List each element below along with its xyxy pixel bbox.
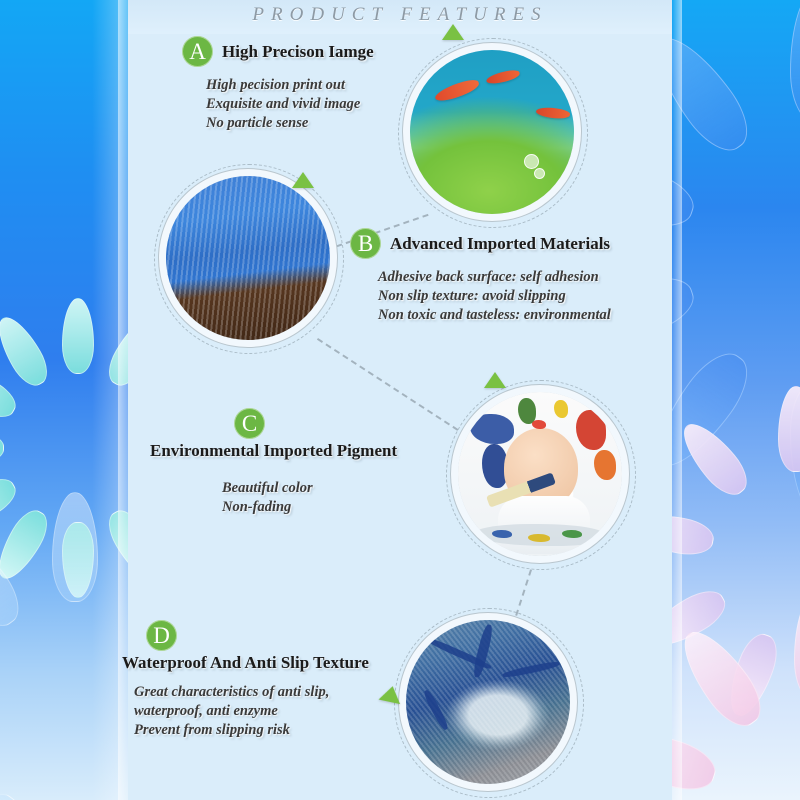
feature-b-heading-row: B Advanced Imported Materials xyxy=(350,228,611,259)
feature-d-body: Great characteristics of anti slip, wate… xyxy=(134,683,369,740)
feature-d-line-1: Great characteristics of anti slip, xyxy=(134,683,369,702)
feature-b-line-2: Non slip texture: avoid slipping xyxy=(378,287,611,306)
feature-c-line-1: Beautiful color xyxy=(222,479,397,498)
product-features-poster: PRODUCT FEATURES xyxy=(0,0,800,800)
feature-d-line-3: Prevent from slipping risk xyxy=(134,721,369,740)
feature-block-b: B Advanced Imported Materials Adhesive b… xyxy=(350,228,611,325)
feature-a-line-3: No particle sense xyxy=(206,114,374,133)
arrow-marker-d-left xyxy=(379,684,404,704)
feature-b-line-3: Non toxic and tasteless: environmental xyxy=(378,306,611,325)
feature-a-heading: High Precison Iamge xyxy=(222,42,374,62)
feature-c-badge: C xyxy=(234,408,265,439)
feature-block-d: D Waterproof And Anti Slip Texture Great… xyxy=(122,620,369,740)
blue-ribbed-fabric-photo xyxy=(166,176,330,340)
feature-b-heading: Advanced Imported Materials xyxy=(390,234,610,254)
feature-a-badge: A xyxy=(182,36,213,67)
arrow-marker-c xyxy=(484,372,506,388)
features-stage: A High Precison Iamge High pecision prin… xyxy=(128,0,672,800)
feature-c-badge-row: C xyxy=(234,408,397,439)
lotus-leaf-koi-fish-photo xyxy=(410,50,574,214)
feature-block-a: A High Precison Iamge High pecision prin… xyxy=(182,36,374,133)
feature-d-badge: D xyxy=(146,620,177,651)
feature-c-line-2: Non-fading xyxy=(222,498,397,517)
feature-d-badge-row: D xyxy=(146,620,369,651)
baby-painting-photo xyxy=(458,392,622,556)
feature-a-line-2: Exquisite and vivid image xyxy=(206,95,374,114)
feature-d-heading: Waterproof And Anti Slip Texture xyxy=(122,653,369,673)
feature-a-heading-row: A High Precison Iamge xyxy=(182,36,374,67)
feature-b-badge: B xyxy=(350,228,381,259)
arrow-marker-a xyxy=(442,24,464,40)
feature-c-heading: Environmental Imported Pigment xyxy=(150,441,397,461)
feature-c-body: Beautiful color Non-fading xyxy=(222,479,397,517)
arrow-marker-b xyxy=(292,172,314,188)
right-border-seam xyxy=(672,0,682,800)
feature-a-body: High pecision print out Exquisite and vi… xyxy=(206,76,374,133)
feature-a-line-1: High pecision print out xyxy=(206,76,374,95)
left-decorative-border xyxy=(0,0,128,800)
feature-b-body: Adhesive back surface: self adhesion Non… xyxy=(378,268,611,325)
feature-b-line-1: Adhesive back surface: self adhesion xyxy=(378,268,611,287)
water-droplet-texture-photo xyxy=(406,620,570,784)
feature-block-c: C Environmental Imported Pigment Beautif… xyxy=(150,408,397,517)
feature-d-line-2: waterproof, anti enzyme xyxy=(134,702,369,721)
right-decorative-border xyxy=(672,0,800,800)
